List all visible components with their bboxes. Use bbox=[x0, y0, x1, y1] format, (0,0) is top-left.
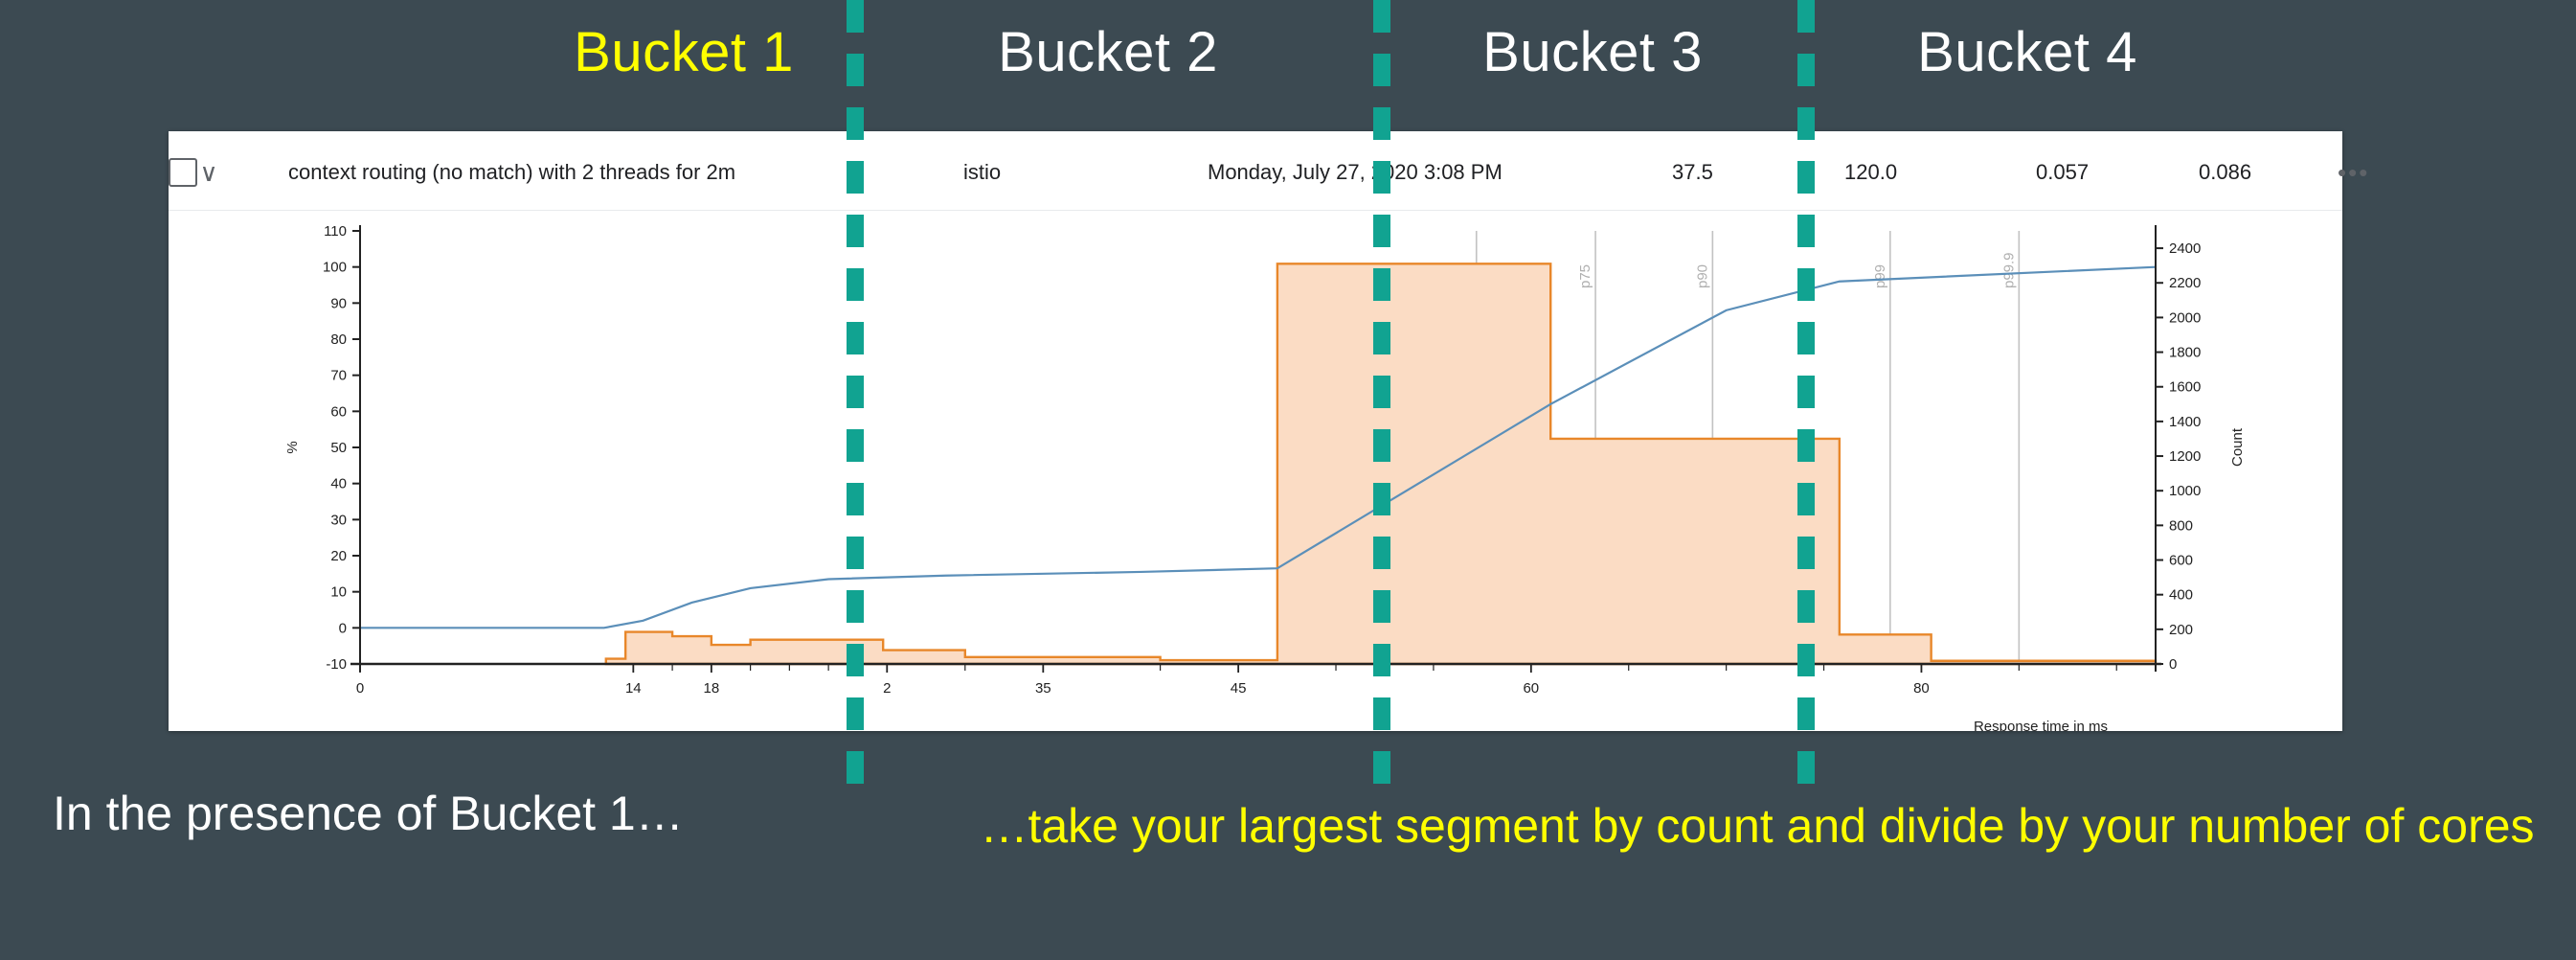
metric-1-cell: 37.5 bbox=[1672, 135, 1713, 210]
left-tick-label: 90 bbox=[330, 295, 347, 311]
x-tick-label: 45 bbox=[1231, 680, 1247, 697]
x-tick-label: 14 bbox=[625, 680, 642, 697]
right-tick-label: 600 bbox=[2169, 553, 2193, 569]
x-tick-label: 80 bbox=[1913, 680, 1930, 697]
date-cell: Monday, July 27, 2020 3:08 PM bbox=[1208, 135, 1503, 210]
metric-3-cell: 0.057 bbox=[2036, 135, 2089, 210]
x-tick-label: 2 bbox=[883, 680, 891, 697]
percentile-label-p75: p75 bbox=[1577, 264, 1593, 288]
right-tick-label: 1000 bbox=[2169, 483, 2201, 499]
right-tick-label: 2400 bbox=[2169, 240, 2201, 257]
bucket-label-3: Bucket 3 bbox=[1420, 19, 1765, 86]
left-tick-label: 80 bbox=[330, 331, 347, 348]
left-tick-label: 60 bbox=[330, 403, 347, 420]
bucket-label-2: Bucket 2 bbox=[936, 19, 1280, 86]
right-tick-label: 1600 bbox=[2169, 379, 2201, 396]
x-axis-title: Response time in ms bbox=[1974, 719, 2108, 731]
right-tick-label: 2000 bbox=[2169, 309, 2201, 326]
metric-2-cell: 120.0 bbox=[1844, 135, 1897, 210]
bucket-label-1: Bucket 1 bbox=[511, 19, 856, 86]
x-tick-label: 35 bbox=[1035, 680, 1051, 697]
caption-right: …take your largest segment by count and … bbox=[948, 786, 2566, 866]
cumulative-line bbox=[360, 267, 2156, 629]
right-tick-label: 1800 bbox=[2169, 345, 2201, 361]
table-row[interactable]: ∨ context routing (no match) with 2 thre… bbox=[169, 135, 2342, 211]
left-tick-label: 110 bbox=[324, 223, 347, 240]
chevron-down-icon[interactable]: ∨ bbox=[190, 135, 228, 210]
left-tick-label: 40 bbox=[330, 476, 347, 492]
right-tick-label: 800 bbox=[2169, 517, 2193, 534]
x-tick-label: 60 bbox=[1523, 680, 1539, 697]
left-tick-label: 10 bbox=[330, 584, 347, 601]
right-axis-title: Count bbox=[2229, 427, 2246, 467]
percentile-label-p99.9: p99.9 bbox=[2000, 252, 2017, 288]
left-tick-label: 50 bbox=[330, 440, 347, 456]
x-tick-label: 18 bbox=[704, 680, 720, 697]
percentile-label-p99: p99 bbox=[1872, 264, 1888, 288]
percentile-label-p90: p90 bbox=[1694, 264, 1710, 288]
test-name-cell: context routing (no match) with 2 thread… bbox=[288, 135, 735, 210]
histogram-chart: p50p75p90p99p99.9-1001020304050607080901… bbox=[169, 212, 2342, 731]
right-tick-label: 2200 bbox=[2169, 275, 2201, 291]
caption-left: In the presence of Bucket 1… bbox=[53, 786, 915, 841]
left-tick-label: 0 bbox=[339, 620, 347, 636]
right-tick-label: 0 bbox=[2169, 656, 2177, 673]
left-tick-label: 100 bbox=[323, 260, 347, 276]
right-tick-label: 1400 bbox=[2169, 414, 2201, 430]
x-tick-label: 0 bbox=[356, 680, 364, 697]
metric-4-cell: 0.086 bbox=[2199, 135, 2251, 210]
left-tick-label: 70 bbox=[330, 368, 347, 384]
left-tick-label: 30 bbox=[330, 512, 347, 528]
right-tick-label: 200 bbox=[2169, 622, 2193, 638]
bucket-divider-2 bbox=[1373, 0, 1390, 768]
right-tick-label: 400 bbox=[2169, 587, 2193, 604]
chart-svg: p50p75p90p99p99.9-1001020304050607080901… bbox=[169, 212, 2342, 731]
bucket-divider-1 bbox=[847, 0, 864, 768]
bucket-label-4: Bucket 4 bbox=[1855, 19, 2200, 86]
bucket-header-strip: Bucket 1Bucket 2Bucket 3Bucket 4 bbox=[0, 0, 2576, 129]
left-tick-label: -10 bbox=[326, 656, 347, 673]
app-panel: ∨ context routing (no match) with 2 thre… bbox=[169, 131, 2342, 731]
left-axis-title: % bbox=[284, 441, 301, 453]
overflow-menu-icon[interactable]: ••• bbox=[2338, 135, 2369, 210]
right-tick-label: 1200 bbox=[2169, 448, 2201, 465]
tag-cell: istio bbox=[963, 135, 1001, 210]
left-tick-label: 20 bbox=[330, 548, 347, 564]
bucket-divider-3 bbox=[1797, 0, 1815, 768]
